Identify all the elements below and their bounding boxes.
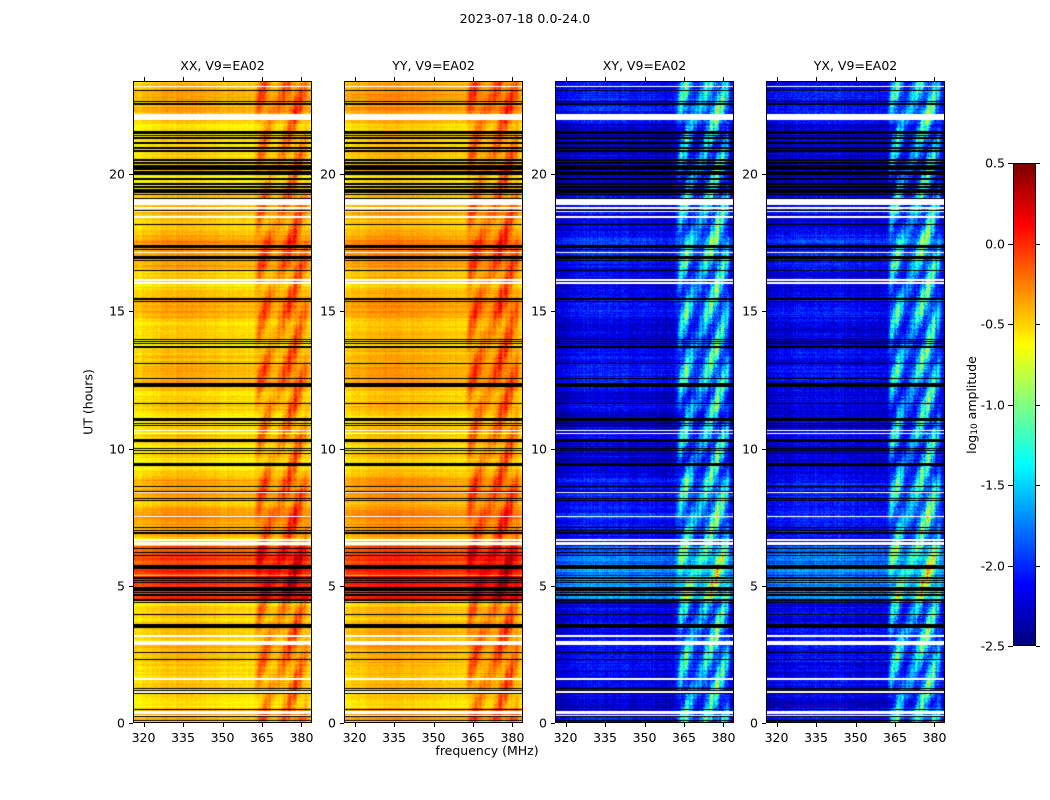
ytick-mark [551, 449, 555, 450]
ytick-label: 0 [304, 716, 336, 731]
xtick-mark-top [895, 77, 896, 81]
xtick-mark-top [605, 77, 606, 81]
ytick-mark [340, 174, 344, 175]
colorbar-tick-label: -0.5 [965, 317, 1005, 332]
ytick-label: 15 [515, 304, 547, 319]
ytick-mark [551, 311, 555, 312]
xtick-mark [144, 723, 145, 727]
xtick-mark [934, 723, 935, 727]
xtick-label: 320 [765, 730, 789, 745]
xtick-mark-top [934, 77, 935, 81]
xtick-mark-top [856, 77, 857, 81]
colorbar-tick-label: -2.5 [965, 639, 1005, 654]
colorbar-tick-mark-right [1036, 646, 1040, 647]
ytick-label: 20 [304, 167, 336, 182]
xtick-label: 335 [804, 730, 828, 745]
colorbar-tick-mark-right [1036, 566, 1040, 567]
xtick-mark [566, 723, 567, 727]
figure-suptitle: 2023-07-18 0.0-24.0 [0, 11, 1050, 26]
colorbar-tick-label: 0.0 [965, 236, 1005, 251]
dynamic-spectrum-image-yy [345, 82, 523, 723]
dynamic-spectrum-image-xx [134, 82, 312, 723]
xtick-label: 350 [844, 730, 868, 745]
xtick-mark-top [566, 77, 567, 81]
colorbar-tick-mark-right [1036, 405, 1040, 406]
ytick-mark [762, 449, 766, 450]
colorbar-tick-mark [1008, 485, 1013, 486]
colorbar-tick-label: -1.5 [965, 478, 1005, 493]
ytick-label: 5 [515, 578, 547, 593]
ytick-label: 10 [515, 441, 547, 456]
ytick-label: 15 [726, 304, 758, 319]
xtick-mark [895, 723, 896, 727]
colorbar-axes[interactable] [1013, 163, 1036, 646]
x-axis-label: frequency (MHz) [435, 743, 538, 758]
colorbar-tick-mark-right [1036, 485, 1040, 486]
ytick-label: 0 [515, 716, 547, 731]
ytick-mark [340, 311, 344, 312]
xtick-mark-top [473, 77, 474, 81]
xtick-mark-top [723, 77, 724, 81]
ytick-mark [340, 723, 344, 724]
ytick-mark [551, 174, 555, 175]
xtick-mark [512, 723, 513, 727]
xtick-label: 350 [211, 730, 235, 745]
xtick-mark-top [144, 77, 145, 81]
subplot-title-yx: YX, V9=EA02 [766, 58, 945, 73]
figure-canvas: 2023-07-18 0.0-24.0 XX, V9=EA02320335350… [0, 0, 1050, 800]
xtick-label: 380 [712, 730, 736, 745]
xtick-label: 365 [250, 730, 274, 745]
ytick-label: 15 [304, 304, 336, 319]
ytick-label: 5 [726, 578, 758, 593]
ytick-mark [762, 311, 766, 312]
xtick-mark [645, 723, 646, 727]
xtick-mark [723, 723, 724, 727]
dynamic-spectrum-image-yx [767, 82, 945, 723]
ytick-label: 20 [515, 167, 547, 182]
colorbar-tick-mark-right [1036, 324, 1040, 325]
xtick-mark [473, 723, 474, 727]
dynamic-spectrum-image-xy [556, 82, 734, 723]
xtick-label: 380 [290, 730, 314, 745]
colorbar-gradient [1014, 164, 1035, 645]
xtick-mark [262, 723, 263, 727]
ytick-label: 5 [93, 578, 125, 593]
ytick-mark [129, 174, 133, 175]
waterfall-axes-xy[interactable] [555, 81, 734, 723]
ytick-label: 0 [726, 716, 758, 731]
colorbar-axis-label: log10 amplitude [964, 356, 980, 454]
ytick-mark [762, 723, 766, 724]
xtick-mark-top [301, 77, 302, 81]
xtick-mark-top [512, 77, 513, 81]
ytick-label: 10 [304, 441, 336, 456]
colorbar-tick-mark [1008, 566, 1013, 567]
waterfall-axes-yy[interactable] [344, 81, 523, 723]
colorbar-tick-mark-right [1036, 244, 1040, 245]
xtick-mark-top [262, 77, 263, 81]
colorbar-tick-mark [1008, 244, 1013, 245]
xtick-label: 320 [343, 730, 367, 745]
xtick-label: 320 [132, 730, 156, 745]
xtick-mark-top [355, 77, 356, 81]
xtick-mark [223, 723, 224, 727]
ytick-label: 20 [726, 167, 758, 182]
ytick-mark [762, 174, 766, 175]
colorbar-tick-label: 0.5 [965, 156, 1005, 171]
ytick-label: 10 [93, 441, 125, 456]
ytick-mark [129, 449, 133, 450]
colorbar-tick-mark [1008, 405, 1013, 406]
xtick-mark [605, 723, 606, 727]
colorbar-tick-mark [1008, 324, 1013, 325]
waterfall-axes-xx[interactable] [133, 81, 312, 723]
subplot-title-xy: XY, V9=EA02 [555, 58, 734, 73]
xtick-label: 365 [883, 730, 907, 745]
xtick-mark [684, 723, 685, 727]
colorbar-label-tail: amplitude [964, 356, 979, 423]
xtick-mark-top [223, 77, 224, 81]
xtick-label: 365 [672, 730, 696, 745]
xtick-label: 335 [171, 730, 195, 745]
y-axis-label: UT (hours) [81, 369, 96, 435]
xtick-mark-top [684, 77, 685, 81]
xtick-mark [434, 723, 435, 727]
ytick-label: 15 [93, 304, 125, 319]
subplot-title-yy: YY, V9=EA02 [344, 58, 523, 73]
xtick-mark-top [434, 77, 435, 81]
xtick-label: 350 [633, 730, 657, 745]
waterfall-axes-yx[interactable] [766, 81, 945, 723]
ytick-mark [129, 311, 133, 312]
ytick-label: 0 [93, 716, 125, 731]
ytick-mark [551, 586, 555, 587]
xtick-mark-top [183, 77, 184, 81]
ytick-mark [340, 586, 344, 587]
xtick-mark [301, 723, 302, 727]
xtick-mark-top [777, 77, 778, 81]
ytick-mark [129, 723, 133, 724]
ytick-label: 20 [93, 167, 125, 182]
xtick-label: 335 [593, 730, 617, 745]
xtick-label: 335 [382, 730, 406, 745]
xtick-mark-top [816, 77, 817, 81]
xtick-mark [355, 723, 356, 727]
xtick-label: 380 [923, 730, 947, 745]
ytick-mark [762, 586, 766, 587]
ytick-label: 10 [726, 441, 758, 456]
xtick-mark [816, 723, 817, 727]
xtick-mark-top [645, 77, 646, 81]
ytick-label: 5 [304, 578, 336, 593]
ytick-mark [551, 723, 555, 724]
xtick-mark [183, 723, 184, 727]
subplot-title-xx: XX, V9=EA02 [133, 58, 312, 73]
colorbar-tick-mark [1008, 646, 1013, 647]
colorbar-tick-mark [1008, 163, 1013, 164]
ytick-mark [129, 586, 133, 587]
colorbar-label-main: log [964, 434, 979, 453]
xtick-mark [777, 723, 778, 727]
colorbar-tick-label: -2.0 [965, 558, 1005, 573]
xtick-label: 320 [554, 730, 578, 745]
xtick-mark [394, 723, 395, 727]
colorbar-tick-mark-right [1036, 163, 1040, 164]
ytick-mark [340, 449, 344, 450]
colorbar-label-subscript: 10 [970, 423, 980, 434]
xtick-mark [856, 723, 857, 727]
xtick-mark-top [394, 77, 395, 81]
